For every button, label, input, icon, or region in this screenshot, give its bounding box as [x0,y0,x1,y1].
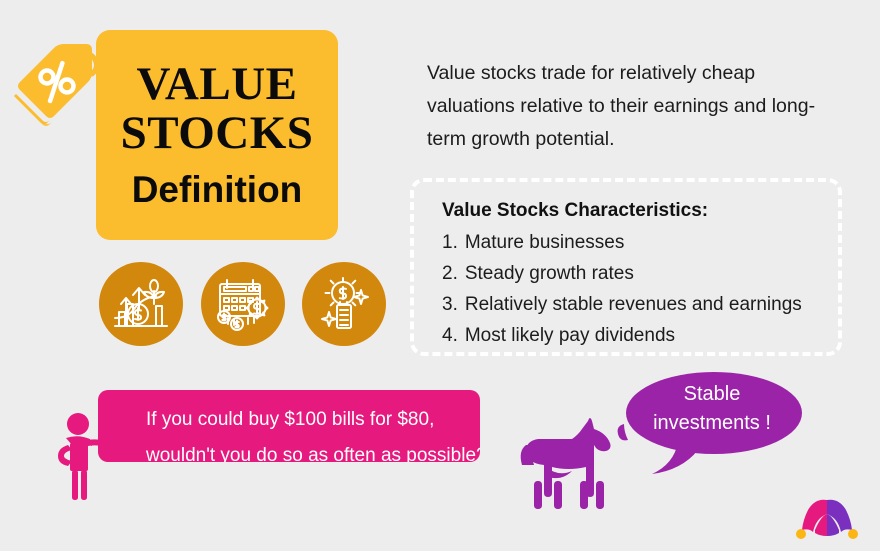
idea-money-bulb-icon-circle [302,262,386,346]
title-subtitle: Definition [132,170,303,210]
characteristics-box: Value Stocks Characteristics: 1.Mature b… [410,178,842,356]
title-line-2: STOCKS [121,109,314,158]
characteristic-number: 3. [442,294,458,315]
characteristic-text: Steady growth rates [465,263,634,284]
quote-line-1: If you could buy $100 bills for $80, [146,402,480,438]
characteristic-text: Most likely pay dividends [465,325,675,346]
characteristic-number: 1. [442,232,458,253]
speech-bubble-line-1: Stable [632,380,792,409]
speech-bubble-text: Stable investments ! [632,380,792,438]
characteristic-item: 2.Steady growth rates [442,258,838,289]
calendar-gear-money-icon-circle [201,262,285,346]
quote-banner: If you could buy $100 bills for $80, wou… [98,390,480,462]
characteristic-item: 4.Most likely pay dividends [442,320,838,351]
intro-paragraph: Value stocks trade for relatively cheap … [427,57,847,156]
characteristic-item: 3.Relatively stable revenues and earning… [442,289,838,320]
characteristic-text: Relatively stable revenues and earnings [465,294,802,315]
characteristic-number: 2. [442,263,458,284]
calendar-gear-money-icon [214,276,272,332]
title-line-1: VALUE [137,60,298,109]
growth-chart-money-icon-circle [99,262,183,346]
characteristic-item: 1.Mature businesses [442,227,838,258]
characteristic-text: Mature businesses [465,232,624,253]
characteristics-title: Value Stocks Characteristics: [442,196,838,225]
title-card: VALUE STOCKS Definition [96,30,338,240]
percent-price-tag-icon [14,34,106,126]
speech-bubble-line-2: investments ! [632,409,792,438]
quote-line-2: wouldn't you do so as often as possible? [146,438,480,462]
motley-fool-jester-hat-logo [793,496,861,542]
characteristic-number: 4. [442,325,458,346]
idea-money-bulb-icon [316,276,372,332]
infographic-canvas: VALUE STOCKS Definition Value stocks tra… [0,0,880,551]
growth-chart-money-icon [112,276,170,332]
horse-icon [516,415,626,513]
